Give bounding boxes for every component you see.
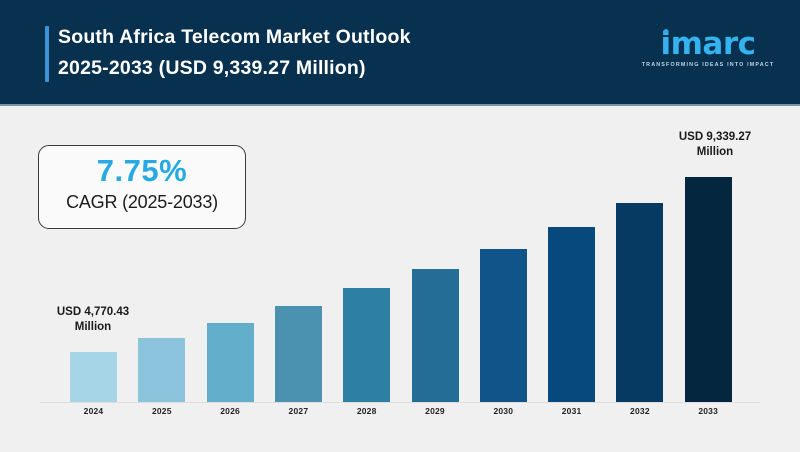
tick-label-2026: 2026 [207, 406, 254, 416]
infographic-root: South Africa Telecom Market Outlook 2025… [0, 0, 800, 452]
bar-2029 [412, 269, 459, 402]
bar-chart: 2024202520262027202820292030203120322033 [0, 0, 800, 452]
tick-label-2030: 2030 [480, 406, 527, 416]
tick-label-2033: 2033 [685, 406, 732, 416]
tick-label-2028: 2028 [343, 406, 390, 416]
bar-2025 [138, 338, 185, 402]
bar-2024 [70, 352, 117, 402]
tick-label-2024: 2024 [70, 406, 117, 416]
tick-label-2029: 2029 [412, 406, 459, 416]
tick-label-2027: 2027 [275, 406, 322, 416]
tick-label-2025: 2025 [138, 406, 185, 416]
bar-2032 [616, 203, 663, 402]
bar-2030 [480, 249, 527, 402]
bar-2033 [685, 177, 732, 402]
bar-2031 [548, 227, 595, 402]
tick-label-2032: 2032 [616, 406, 663, 416]
bar-2027 [275, 306, 322, 402]
chart-baseline [40, 402, 760, 403]
tick-label-2031: 2031 [548, 406, 595, 416]
bar-2028 [343, 288, 390, 402]
bar-2026 [207, 323, 254, 402]
